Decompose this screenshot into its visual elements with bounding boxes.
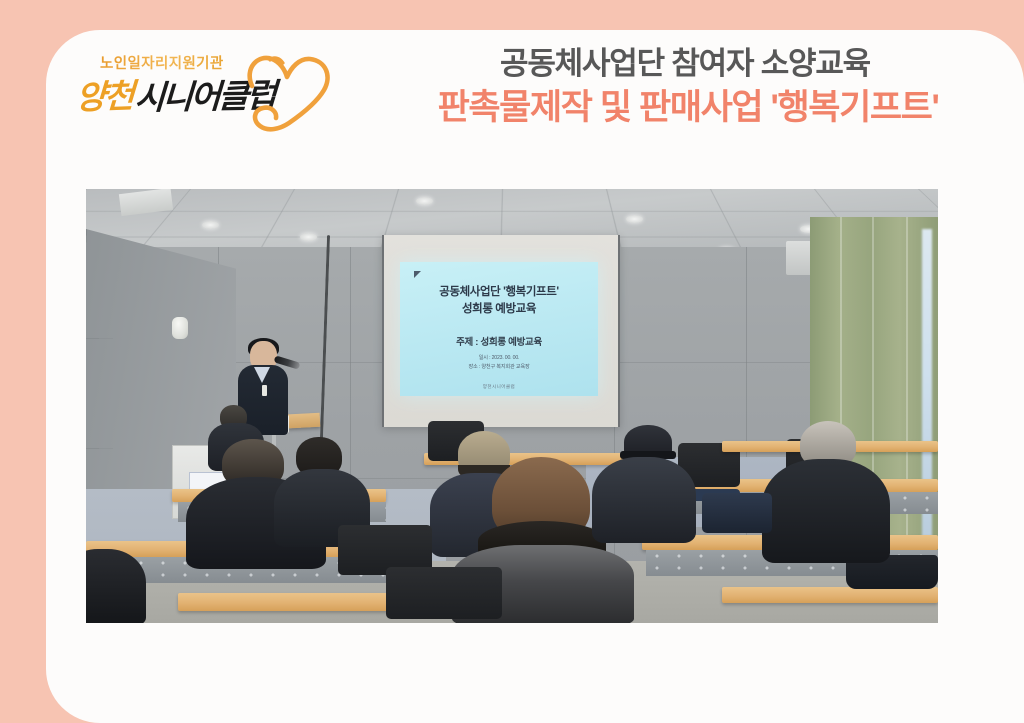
event-photo: 공동체사업단 '행복기프트' 성희롱 예방교육 주제 : 성희롱 예방교육 일시… xyxy=(86,189,938,623)
slide-meta-line-1: 일시 : 2023. 00. 00. xyxy=(400,354,598,363)
title-line-2: 판촉물제작 및 판매사업 '행복기프트' xyxy=(352,87,1024,129)
attendee-coat xyxy=(762,459,890,563)
slide-title-line-1: 공동체사업단 '행복기프트' xyxy=(400,284,598,301)
poster-header: 노인일자리지원기관 양천 시니어클럽 공동체사업단 참여자 소양교육 판촉물제작… xyxy=(46,30,1024,190)
ceiling-downlight xyxy=(416,197,433,205)
title-line-1: 공동체사업단 참여자 소양교육 xyxy=(346,46,1024,83)
chair xyxy=(702,493,772,533)
poster-root: 노인일자리지원기관 양천 시니어클럽 공동체사업단 참여자 소양교육 판촉물제작… xyxy=(0,0,1024,723)
ceiling-downlight xyxy=(202,221,219,229)
curtain-seam xyxy=(906,217,908,577)
slide-meta-line-2: 장소 : 양천구 복지회관 교육장 xyxy=(400,363,598,372)
presenter-lanyard xyxy=(262,385,267,396)
projected-slide: 공동체사업단 '행복기프트' 성희롱 예방교육 주제 : 성희롱 예방교육 일시… xyxy=(400,262,598,396)
wall-light xyxy=(172,317,188,339)
desk xyxy=(722,587,938,603)
slide-footer-logo: 양천시니어클럽 xyxy=(400,384,598,390)
ceiling-downlight xyxy=(300,233,317,241)
slide-corner-mark xyxy=(414,271,421,278)
slide-title: 공동체사업단 '행복기프트' 성희롱 예방교육 xyxy=(400,284,598,317)
title-block: 공동체사업단 참여자 소양교육 판촉물제작 및 판매사업 '행복기프트' xyxy=(346,46,1024,129)
attendee-coat xyxy=(86,549,146,623)
slide-subject: 주제 : 성희롱 예방교육 xyxy=(400,334,598,348)
heart-ribbon-icon xyxy=(240,46,336,138)
slide-meta: 일시 : 2023. 00. 00. 장소 : 양천구 복지회관 교육장 xyxy=(400,354,598,372)
attendee-coat xyxy=(592,457,696,543)
logo-name-accent: 양천 xyxy=(75,69,134,119)
slide-title-line-2: 성희롱 예방교육 xyxy=(400,301,598,318)
photo-scene: 공동체사업단 '행복기프트' 성희롱 예방교육 주제 : 성희롱 예방교육 일시… xyxy=(86,189,938,623)
content-card: 노인일자리지원기관 양천 시니어클럽 공동체사업단 참여자 소양교육 판촉물제작… xyxy=(46,30,1024,723)
chair xyxy=(386,567,502,619)
desk xyxy=(178,593,408,611)
organization-logo: 노인일자리지원기관 양천 시니어클럽 xyxy=(70,48,340,148)
ceiling-downlight xyxy=(626,215,643,223)
